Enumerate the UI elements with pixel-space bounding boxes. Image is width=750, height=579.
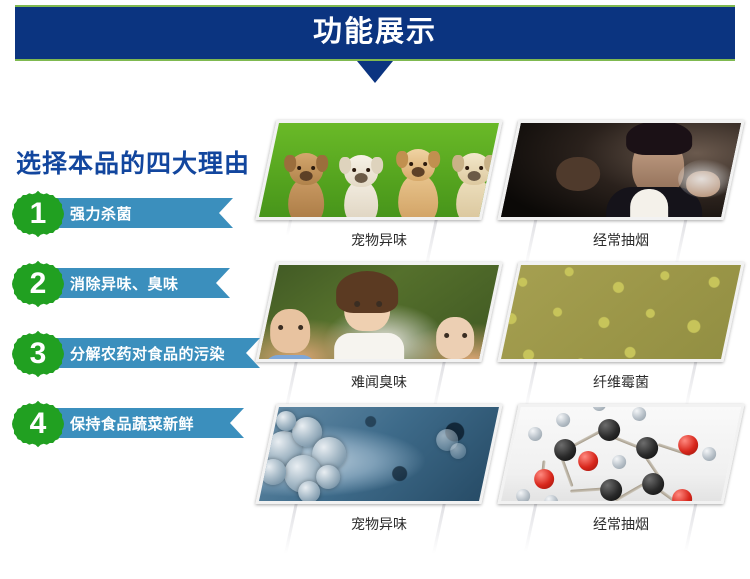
reason-number-badge-icon: 2 <box>12 258 64 310</box>
reason-label: 保持食品蔬菜新鲜 <box>70 413 194 434</box>
photo-caption: 宠物异味 <box>266 230 492 250</box>
photo-gallery: 宠物异味 经常抽烟 <box>262 120 750 560</box>
banner-down-arrow-icon <box>357 61 393 83</box>
photo-smoking-man-image <box>497 120 744 220</box>
gallery-card[interactable]: 经常抽烟 <box>508 404 734 534</box>
photo-frame <box>255 120 502 220</box>
photo-frame <box>497 404 744 504</box>
photo-caption: 经常抽烟 <box>508 230 734 250</box>
reason-number-badge-icon: 3 <box>12 328 64 380</box>
gallery-card[interactable]: 纤维霉菌 <box>508 262 734 392</box>
gallery-card[interactable]: 宠物异味 <box>266 404 492 534</box>
photo-frame <box>255 262 502 362</box>
promo-page: 功能展示 选择本品的四大理由 强力杀菌 1 消除异味、臭味 2 分解农药对食品的… <box>0 0 750 579</box>
reason-number-badge-icon: 4 <box>12 398 64 450</box>
reasons-panel: 选择本品的四大理由 强力杀菌 1 消除异味、臭味 2 分解农药对食品的污染 3 … <box>0 130 290 480</box>
reason-number-badge-icon: 1 <box>12 188 64 240</box>
photo-kids-bad-smell-image <box>255 262 502 362</box>
section-banner: 功能展示 <box>15 5 735 61</box>
photo-caption: 经常抽烟 <box>508 514 734 534</box>
photo-caption: 纤维霉菌 <box>508 372 734 392</box>
photo-virus-cluster-image <box>255 404 502 504</box>
banner-title: 功能展示 <box>313 18 437 49</box>
reason-ribbon: 分解农药对食品的污染 <box>48 338 260 368</box>
photo-frame <box>497 120 744 220</box>
reason-label: 强力杀菌 <box>70 203 132 224</box>
reason-label: 分解农药对食品的污染 <box>70 343 225 364</box>
gallery-card[interactable]: 经常抽烟 <box>508 120 734 250</box>
photo-mould-micrograph-image <box>497 262 744 362</box>
reason-ribbon: 保持食品蔬菜新鲜 <box>48 408 244 438</box>
reason-label: 消除异味、臭味 <box>70 273 179 294</box>
photo-caption: 难闻臭味 <box>266 372 492 392</box>
gallery-card[interactable]: 宠物异味 <box>266 120 492 250</box>
photo-caption: 宠物异味 <box>266 514 492 534</box>
photo-frame <box>497 262 744 362</box>
reason-ribbon: 消除异味、臭味 <box>48 268 230 298</box>
photo-molecule-model-image <box>497 404 744 504</box>
reason-ribbon: 强力杀菌 <box>48 198 233 228</box>
gallery-card[interactable]: 难闻臭味 <box>266 262 492 392</box>
photo-frame <box>255 404 502 504</box>
reasons-heading: 选择本品的四大理由 <box>16 144 250 180</box>
photo-puppies-image <box>255 120 502 220</box>
